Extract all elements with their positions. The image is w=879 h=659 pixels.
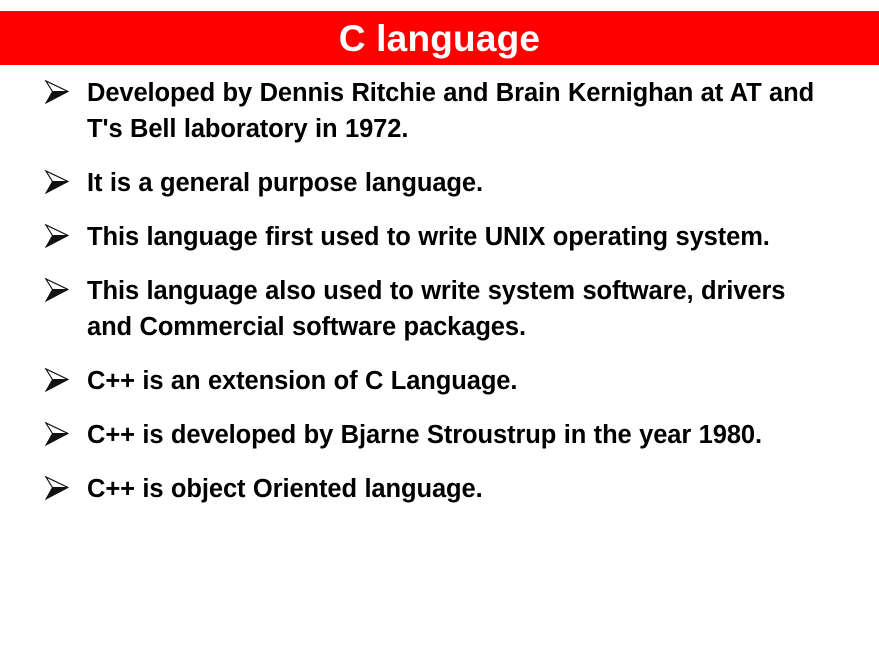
presentation-slide: C language Developed by Dennis Ritchie a… bbox=[0, 0, 879, 659]
arrowhead-bullet-icon bbox=[44, 366, 70, 394]
list-item: This language first used to write UNIX o… bbox=[0, 219, 879, 255]
list-item: It is a general purpose language. bbox=[0, 165, 879, 201]
bullet-list: Developed by Dennis Ritchie and Brain Ke… bbox=[0, 75, 879, 525]
list-item-text: Developed by Dennis Ritchie and Brain Ke… bbox=[87, 75, 832, 147]
list-item-text: This language first used to write UNIX o… bbox=[87, 219, 805, 255]
list-item-text: C++ is object Oriented language. bbox=[87, 471, 835, 507]
arrowhead-bullet-icon bbox=[44, 474, 70, 502]
arrowhead-bullet-icon bbox=[44, 222, 70, 250]
slide-title-banner: C language bbox=[0, 11, 879, 65]
list-item-text: C++ is an extension of C Language. bbox=[87, 363, 835, 399]
list-item: Developed by Dennis Ritchie and Brain Ke… bbox=[0, 75, 879, 147]
list-item-text: It is a general purpose language. bbox=[87, 165, 835, 201]
list-item-text: This language also used to write system … bbox=[87, 273, 835, 345]
arrowhead-bullet-icon bbox=[44, 420, 70, 448]
arrowhead-bullet-icon bbox=[44, 78, 70, 106]
list-item: C++ is an extension of C Language. bbox=[0, 363, 879, 399]
page-title: C language bbox=[339, 20, 540, 57]
list-item-text: C++ is developed by Bjarne Stroustrup in… bbox=[87, 417, 829, 453]
list-item: C++ is developed by Bjarne Stroustrup in… bbox=[0, 417, 879, 453]
arrowhead-bullet-icon bbox=[44, 168, 70, 196]
list-item: C++ is object Oriented language. bbox=[0, 471, 879, 507]
list-item: This language also used to write system … bbox=[0, 273, 879, 345]
arrowhead-bullet-icon bbox=[44, 276, 70, 304]
